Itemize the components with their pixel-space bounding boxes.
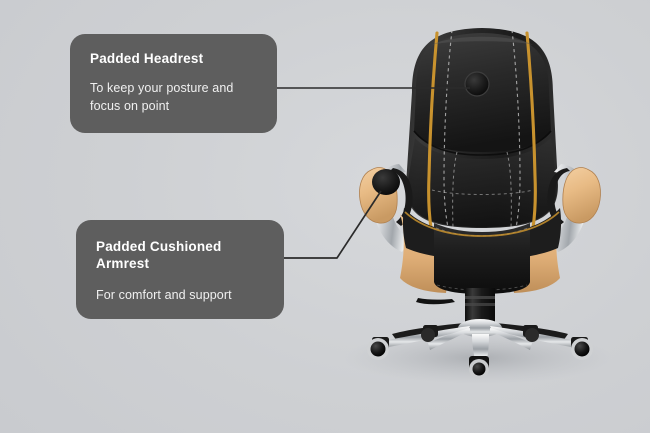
callout-headrest-title: Padded Headrest	[90, 50, 257, 67]
armrest-right-pad	[563, 168, 601, 224]
cylinder-ring-1	[465, 296, 495, 299]
callout-headrest-body: To keep your posture and focus on point	[90, 79, 257, 115]
height-lever	[416, 298, 455, 304]
cylinder-ring-2	[465, 303, 495, 306]
callout-armrest[interactable]: Padded Cushioned Armrest For comfort and…	[76, 220, 284, 319]
callout-armrest-title: Padded Cushioned Armrest	[96, 238, 264, 272]
armrest-left-knob-icon	[372, 169, 400, 195]
callout-armrest-body: For comfort and support	[96, 286, 264, 304]
callout-headrest[interactable]: Padded Headrest To keep your posture and…	[70, 34, 277, 133]
caster-front-right	[571, 337, 593, 360]
headrest-grommet-icon	[465, 72, 489, 96]
infographic-canvas: Padded Headrest To keep your posture and…	[0, 0, 650, 433]
chair-backrest	[406, 28, 558, 228]
seat-front-panel	[434, 223, 530, 294]
caster-front-left	[367, 337, 389, 360]
caster-center-front	[469, 356, 489, 379]
